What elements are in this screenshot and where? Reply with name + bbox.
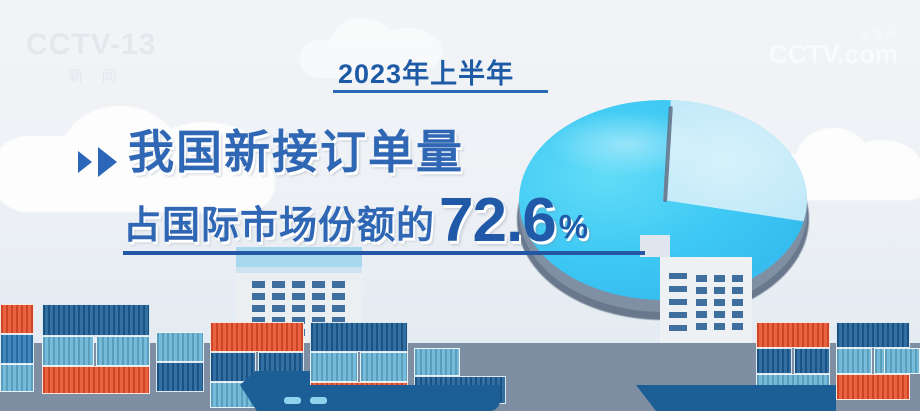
ship-left-porthole xyxy=(310,397,327,404)
cctvcom-domain-text: CCTV.com xyxy=(769,41,898,67)
cctvcom-watermark: 央视网 CCTV.com xyxy=(769,30,898,67)
shipping-container xyxy=(884,348,920,374)
headline-line-2-prefix: 占国际市场份额的 xyxy=(123,207,435,249)
shipping-container xyxy=(310,322,408,352)
shipping-container xyxy=(836,348,872,374)
shipping-container xyxy=(0,304,34,334)
eyebrow-title: 2023年上半年 xyxy=(338,52,514,91)
shipping-container xyxy=(42,366,150,394)
headline-stat-unit: % xyxy=(559,210,588,249)
ship-left-deck xyxy=(240,371,310,385)
eyebrow-underline xyxy=(333,90,548,93)
shipping-container xyxy=(0,334,34,364)
ship-left-bow xyxy=(240,385,280,411)
headline-line-1: 我国新接订单量 xyxy=(128,128,464,176)
office-louvers xyxy=(669,273,687,331)
headline-stat-number: 72.6 xyxy=(439,192,556,249)
cctv13-watermark: CCTV-13 新 闻 xyxy=(26,30,166,92)
shipping-container xyxy=(96,336,150,366)
ship-left-porthole xyxy=(284,397,301,404)
infographic-canvas: CCTV-13 新 闻 央视网 CCTV.com xyxy=(0,0,920,411)
pie-highlight xyxy=(548,112,706,176)
shipping-container xyxy=(210,322,304,352)
headline-line-2: 占国际市场份额的 72.6 % xyxy=(123,192,588,249)
shipping-container xyxy=(0,364,34,392)
shipping-container xyxy=(836,322,910,348)
chevron-right-icon xyxy=(78,151,92,173)
port-office-building xyxy=(660,257,752,343)
warehouse-roof xyxy=(236,247,362,267)
ship-right-hull xyxy=(636,385,836,411)
cargo-ship-right xyxy=(636,385,836,411)
cctv13-sub-text: 新 闻 xyxy=(26,65,166,86)
shipping-container xyxy=(156,332,204,362)
headline-underline xyxy=(123,251,645,255)
cctv13-logo-text: CCTV-13 xyxy=(26,30,166,60)
shipping-container xyxy=(156,362,204,392)
chevron-right-icon xyxy=(98,147,117,177)
chevron-marker-icon xyxy=(78,146,130,178)
shipping-container xyxy=(42,336,94,366)
shipping-container xyxy=(756,348,792,374)
shipping-container xyxy=(42,304,150,336)
office-window-grid xyxy=(696,275,743,330)
shipping-container xyxy=(756,322,830,348)
shipping-container xyxy=(794,348,830,374)
cargo-ship-left xyxy=(240,371,500,411)
warehouse-roof-band xyxy=(236,267,362,273)
shipping-container xyxy=(836,374,910,400)
